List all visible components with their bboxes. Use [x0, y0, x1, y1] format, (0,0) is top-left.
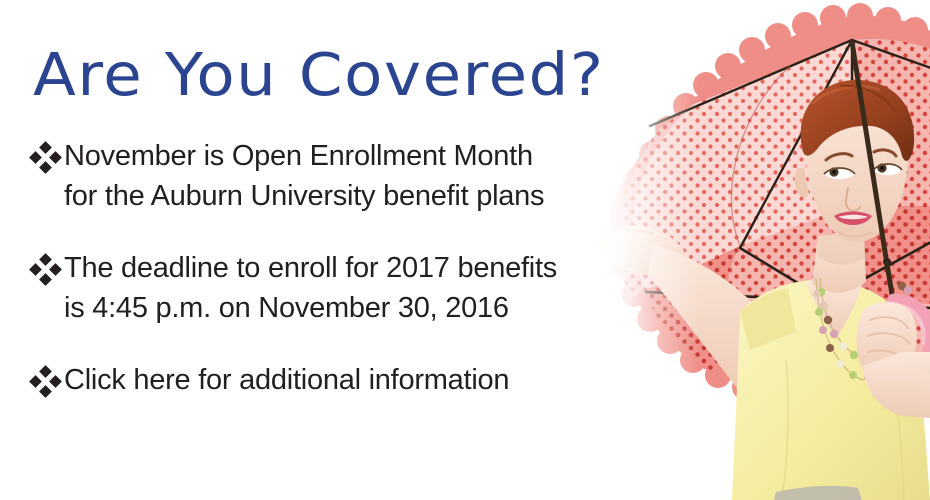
right-hand [856, 302, 916, 380]
denim-waistband [774, 486, 862, 500]
list-item: November is Open Enrollment Month for th… [30, 136, 650, 216]
click-here-link[interactable]: Click here for additional information [30, 360, 650, 400]
list-item-text: November is Open Enrollment Month for th… [64, 136, 544, 216]
four-diamond-bullet-icon [30, 142, 64, 176]
list-item-text: The deadline to enroll for 2017 benefits… [64, 248, 557, 328]
right-forearm [862, 352, 930, 418]
hair [801, 80, 914, 161]
four-diamond-bullet-icon [30, 254, 64, 288]
umbrella-shaft-and-handle [852, 42, 930, 376]
four-diamond-bullet-icon [30, 366, 64, 400]
left-forearm [648, 244, 796, 392]
benefits-enrollment-banner: Are You Covered? November is Open Enroll… [0, 0, 930, 500]
neck [812, 232, 866, 293]
woman-head [794, 80, 914, 242]
yellow-shirt [732, 279, 930, 500]
bullet-list: November is Open Enrollment Month for th… [30, 136, 650, 400]
list-item: The deadline to enroll for 2017 benefits… [30, 248, 650, 328]
click-here-link-text[interactable]: Click here for additional information [64, 360, 509, 400]
umbrella-canopy [609, 3, 930, 409]
beaded-necklace [813, 278, 912, 381]
page-title: Are You Covered? [33, 42, 605, 108]
